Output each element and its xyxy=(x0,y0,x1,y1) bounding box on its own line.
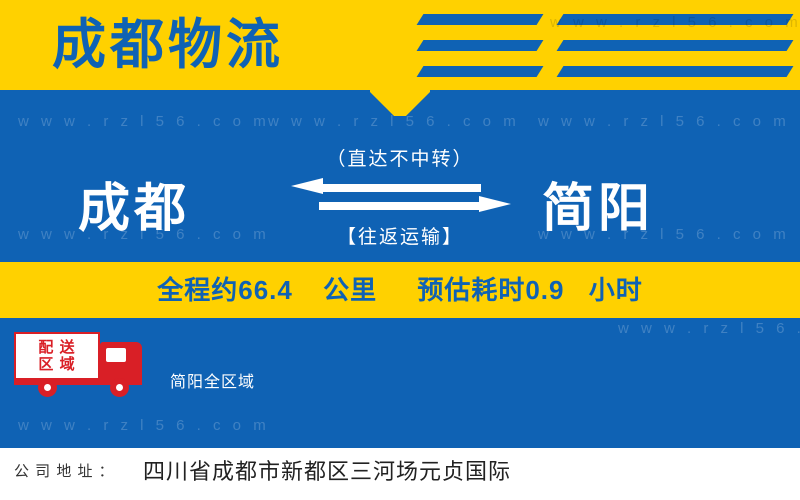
duration-value: 预估耗时0.9 xyxy=(417,275,564,305)
duration-unit: 小时 xyxy=(589,275,643,305)
distance-unit: 公里 xyxy=(323,275,377,305)
footer-address-label: 公 司 地 址 ： xyxy=(14,460,115,481)
distance-value: 全程约66.4 xyxy=(157,275,293,305)
truck-badge-line2: 区 域 xyxy=(38,356,75,373)
arrow-bar-left xyxy=(321,184,481,192)
watermark: w w w . r z l 5 6 . c o m xyxy=(538,113,790,130)
truck-badge-text: 配 送 区 域 xyxy=(14,332,100,380)
chevron-stripe-2 xyxy=(417,40,544,51)
chevron-stripe-5 xyxy=(557,40,794,51)
truck-wheel-rear-hub xyxy=(44,384,51,391)
watermark: w w w . r z l 5 6 . c o m xyxy=(550,14,800,31)
page-title: 成都物流 xyxy=(52,8,284,82)
delivery-truck-icon: 配 送 区 域 xyxy=(14,332,159,398)
info-strip-text: 全程约66.4 公里 预估耗时0.9 小时 xyxy=(0,262,800,318)
watermark: w w w . r z l 5 6 . c o m xyxy=(18,113,270,130)
route-arrows xyxy=(285,180,515,216)
chevron-stripe-1 xyxy=(417,14,544,25)
watermark: w w w . r z l 5 6 . c o m xyxy=(18,417,270,434)
truck-window xyxy=(106,348,126,362)
logistics-poster: 成都物流 w w w . r z l 5 6 . c o m w w w . r… xyxy=(0,0,800,500)
destination-city: 简阳 xyxy=(542,166,654,241)
origin-city: 成都 xyxy=(78,166,190,241)
arrow-bar-right xyxy=(319,202,479,210)
roundtrip-label: 【往返运输】 xyxy=(250,222,550,249)
chevron-stripe-6 xyxy=(557,66,794,77)
truck-badge-line1: 配 送 xyxy=(38,339,75,356)
arrow-head-left-icon xyxy=(291,178,323,194)
direct-label: （直达不中转） xyxy=(250,144,550,171)
watermark: w w w . r z l 5 6 . c o m xyxy=(618,320,800,337)
truck-wheel-front-hub xyxy=(116,384,123,391)
chevron-stripe-3 xyxy=(417,66,544,77)
footer-address-value: 四川省成都市新都区三河场元贞国际 xyxy=(143,454,511,486)
coverage-label: 简阳全区域 xyxy=(170,368,255,392)
watermark: w w w . r z l 5 6 . c o m xyxy=(268,113,520,130)
arrow-head-right-icon xyxy=(479,196,511,212)
